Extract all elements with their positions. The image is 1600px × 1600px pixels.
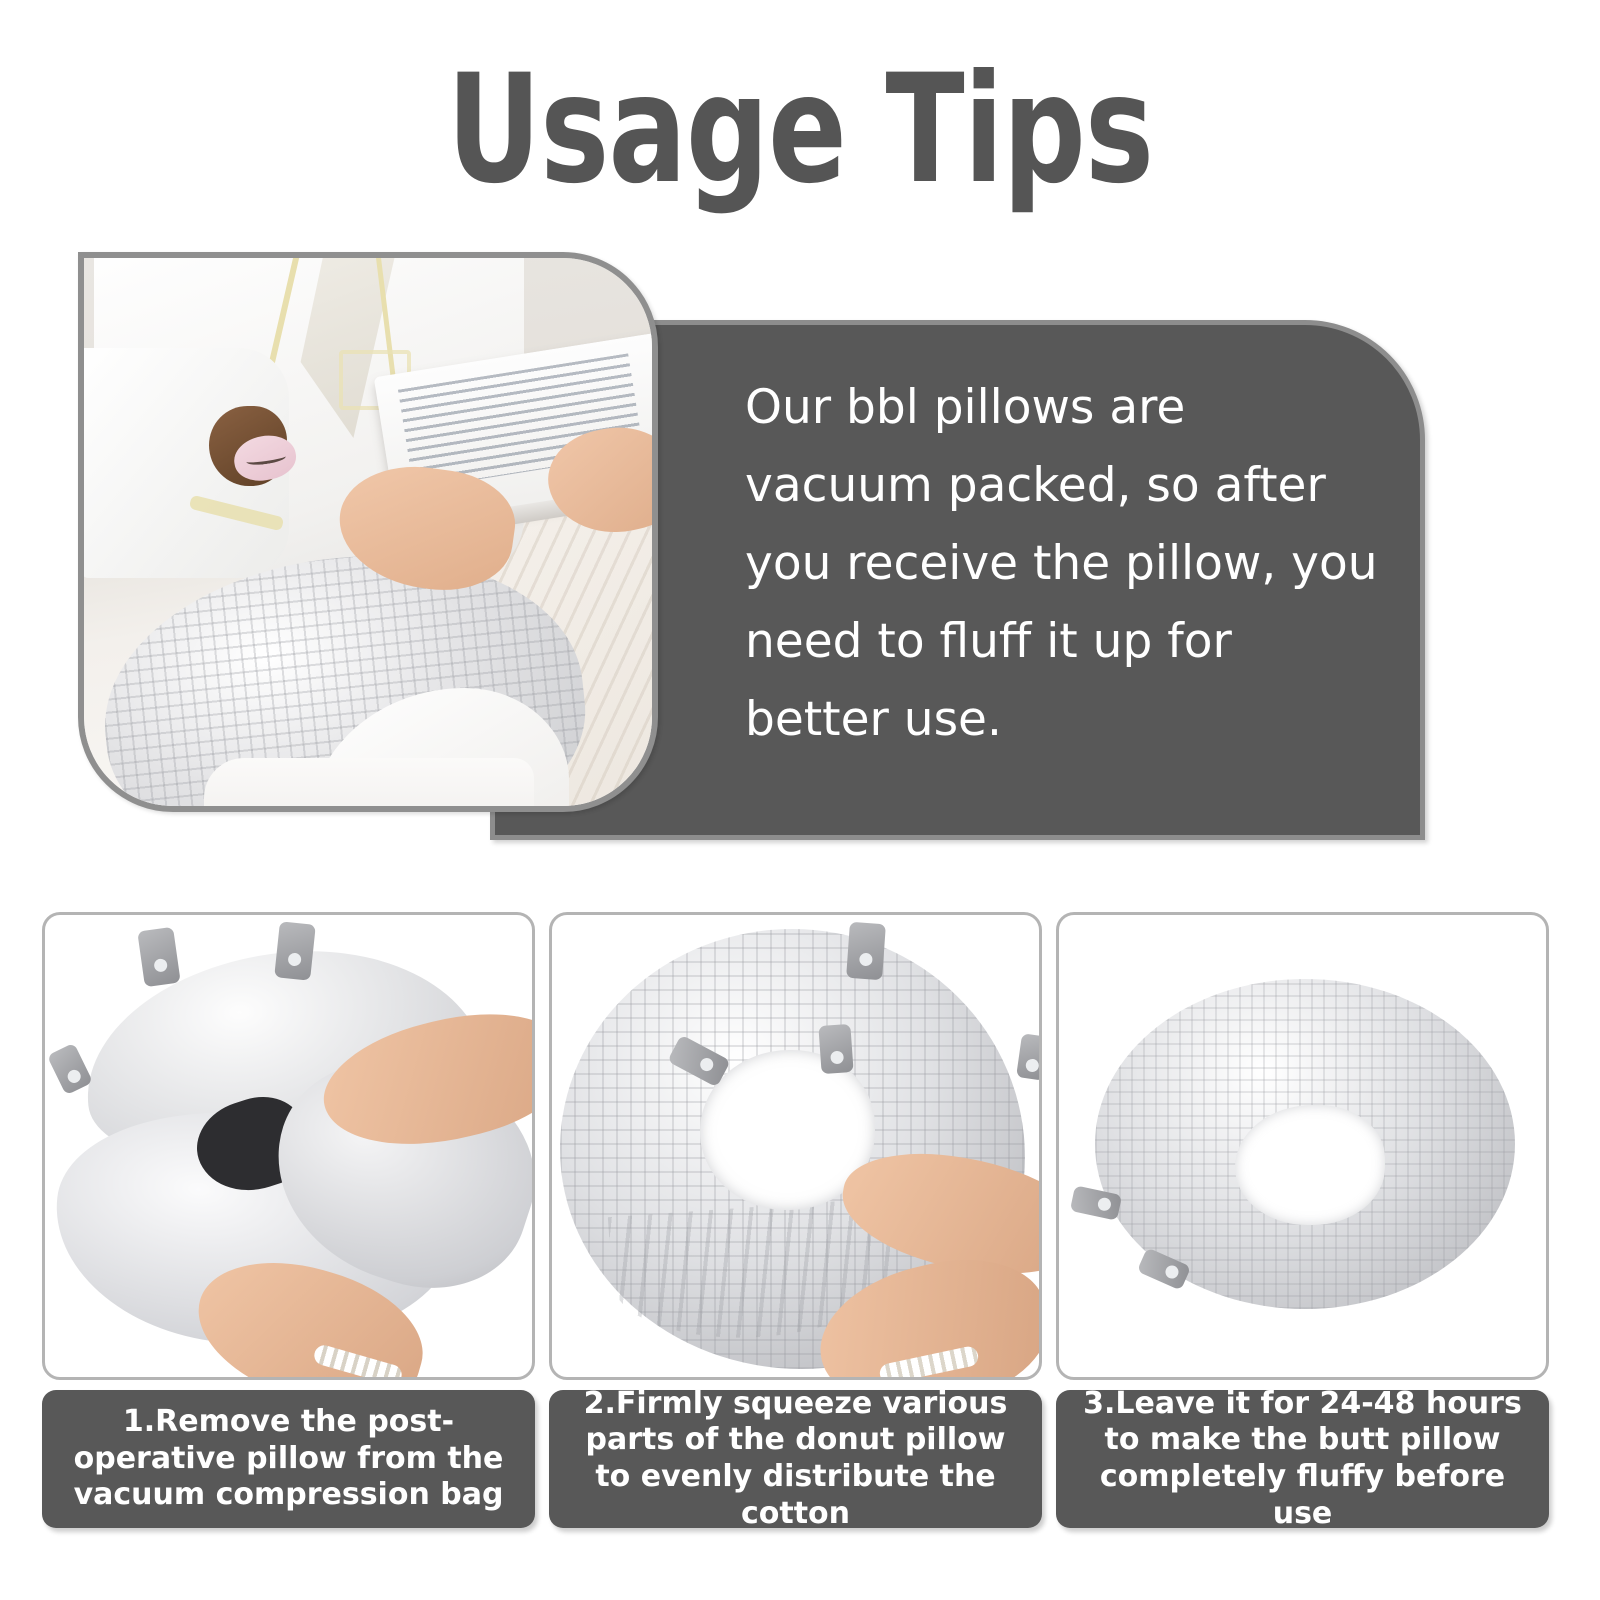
snap-tab-icon [1016, 1033, 1042, 1080]
snap-tab-icon [846, 922, 886, 980]
hero-photo-frame [78, 252, 658, 812]
snap-tab-icon [137, 927, 180, 987]
snap-tab-icon [274, 921, 316, 980]
step-1: 1.Remove the post-operative pillow from … [42, 912, 535, 1532]
infographic-page: Usage Tips Our bbl pillows are vacuum pa… [0, 0, 1600, 1600]
steps-row: 1.Remove the post-operative pillow from … [42, 912, 1558, 1532]
tip-body-text: Our bbl pillows are vacuum packed, so af… [745, 369, 1385, 759]
step-1-caption: 1.Remove the post-operative pillow from … [42, 1390, 535, 1528]
step-2-photo [549, 912, 1042, 1380]
page-title: Usage Tips [112, 55, 1488, 205]
hero-photo [84, 258, 652, 806]
step-2: 2.Firmly squeeze various parts of the do… [549, 912, 1042, 1532]
step-1-photo [42, 912, 535, 1380]
step-3: 3.Leave it for 24-48 hours to make the b… [1056, 912, 1549, 1532]
snap-tab-icon [818, 1024, 853, 1074]
step-3-photo [1056, 912, 1549, 1380]
snap-tab-icon [47, 1043, 93, 1096]
step-3-caption: 3.Leave it for 24-48 hours to make the b… [1056, 1390, 1549, 1528]
step-2-caption: 2.Firmly squeeze various parts of the do… [549, 1390, 1042, 1528]
